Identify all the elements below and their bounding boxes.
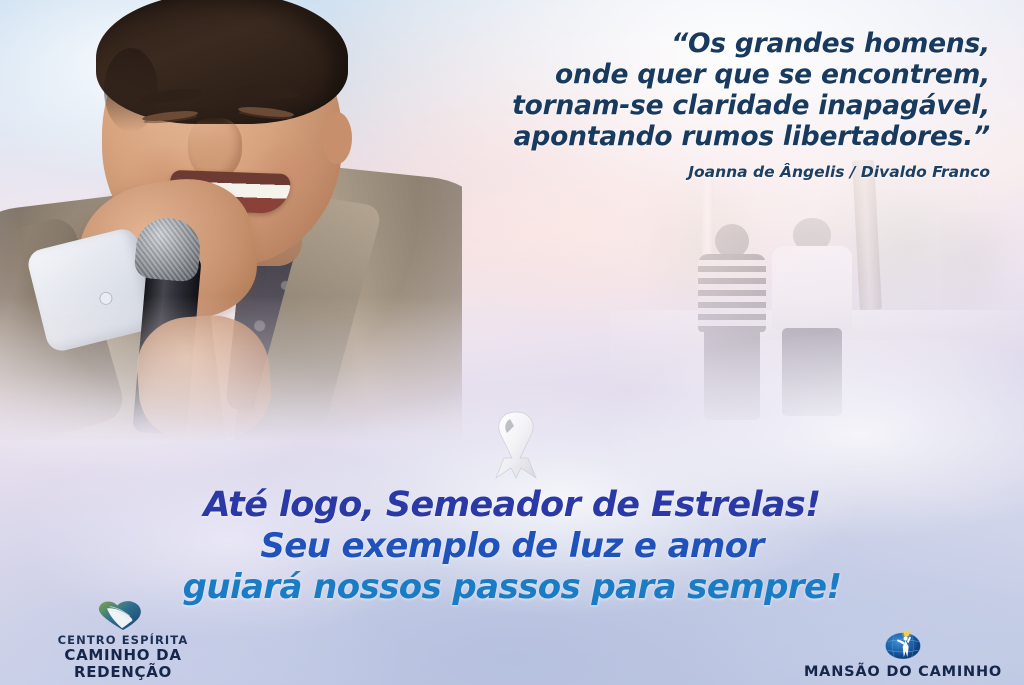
hair [96, 0, 348, 124]
quote-line-4: apontando rumos libertadores.” [350, 121, 990, 152]
neck [192, 186, 302, 266]
headline-line-2: Seu exemplo de luz e amor [0, 526, 1024, 567]
logo-left-line-2: CAMINHO DA REDENÇÃO [18, 647, 228, 681]
quote-author: Joanna de Ângelis / Divaldo Franco [350, 163, 990, 181]
suit-sleeve [0, 213, 128, 456]
white-ribbon-icon [484, 406, 548, 484]
head [793, 218, 831, 252]
torso [772, 246, 852, 330]
person-white-shirt [770, 218, 854, 414]
necktie [225, 215, 321, 417]
logo-mansao-do-caminho: MANSÃO DO CAMINHO [798, 629, 1008, 681]
background-photo [610, 160, 1024, 460]
foliage [620, 170, 770, 330]
tree-trunk [852, 160, 882, 311]
quote-line-1: “Os grandes homens, [350, 28, 990, 59]
cloud-wisp [0, 0, 360, 190]
quote-line-2: onde quer que se encontrem, [350, 59, 990, 90]
fingers [134, 312, 274, 445]
shirt-cuff [25, 226, 159, 354]
microphone-head [133, 215, 202, 282]
ear [322, 112, 352, 164]
suit-lapel [251, 196, 384, 431]
pole [702, 160, 713, 330]
nose [188, 118, 242, 180]
headline-block: Até logo, Semeador de Estrelas! Seu exem… [0, 484, 1024, 608]
torso [698, 254, 766, 332]
suit-shoulder-left [0, 186, 228, 484]
microphone-body [132, 252, 201, 436]
quote-block: “Os grandes homens, onde quer que se enc… [350, 28, 990, 181]
person-striped-shirt [696, 224, 768, 410]
cheek [244, 138, 330, 200]
ground [610, 340, 1024, 460]
head [715, 224, 749, 258]
logo-centro-espirita: CENTRO ESPÍRITA CAMINHO DA REDENÇÃO [18, 599, 228, 681]
eye-closed [238, 105, 295, 119]
cloud-wisp [0, 250, 400, 480]
eyebrow [139, 86, 202, 105]
face [102, 4, 342, 266]
foliage [820, 160, 1020, 350]
quote-line-3: tornam-se claridade inapagável, [350, 90, 990, 121]
eye-closed [142, 109, 199, 123]
hand-on-chin [70, 169, 264, 334]
heart-with-hands-icon [94, 599, 152, 631]
cheek [120, 144, 206, 206]
headline-line-1: Até logo, Semeador de Estrelas! [0, 484, 1024, 526]
palm-tree [940, 212, 1024, 332]
wall [610, 310, 1024, 352]
memorial-poster: “Os grandes homens, onde quer que se enc… [0, 0, 1024, 685]
dress-shirt [237, 197, 346, 393]
logo-right-line-2: MANSÃO DO CAMINHO [798, 664, 1008, 681]
globe-with-figure-icon [877, 629, 929, 661]
smiling-mouth [169, 170, 290, 214]
eyebrow [238, 83, 301, 101]
suit-shoulder-right [232, 160, 512, 484]
legs [782, 328, 842, 416]
legs [704, 328, 760, 420]
